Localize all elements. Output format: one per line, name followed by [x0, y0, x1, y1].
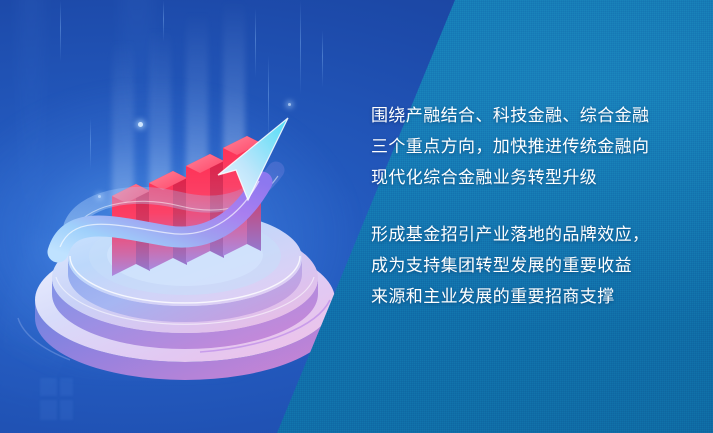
paragraph-one-line-1: 围绕产融结合、科技金融、综合金融: [371, 100, 691, 131]
message-copy: 围绕产融结合、科技金融、综合金融 三个重点方向，加快推进传统金融向 现代化综合金…: [371, 100, 691, 312]
paragraph-one: 围绕产融结合、科技金融、综合金融 三个重点方向，加快推进传统金融向 现代化综合金…: [371, 100, 691, 193]
paragraph-one-line-2: 三个重点方向，加快推进传统金融向: [371, 131, 691, 162]
bar-2: [149, 171, 187, 270]
paragraph-two-line-2: 成为支持集团转型发展的重要收益: [371, 250, 691, 281]
paragraph-two-line-3: 来源和主业发展的重要招商支撑: [371, 281, 691, 312]
banner-stage: 围绕产融结合、科技金融、综合金融 三个重点方向，加快推进传统金融向 现代化综合金…: [0, 0, 713, 433]
paragraph-two: 形成基金招引产业落地的品牌效应， 成为支持集团转型发展的重要收益 来源和主业发展…: [371, 219, 691, 312]
paragraph-two-line-1: 形成基金招引产业落地的品牌效应，: [371, 219, 691, 250]
paragraph-one-line-3: 现代化综合金融业务转型升级: [371, 162, 691, 193]
